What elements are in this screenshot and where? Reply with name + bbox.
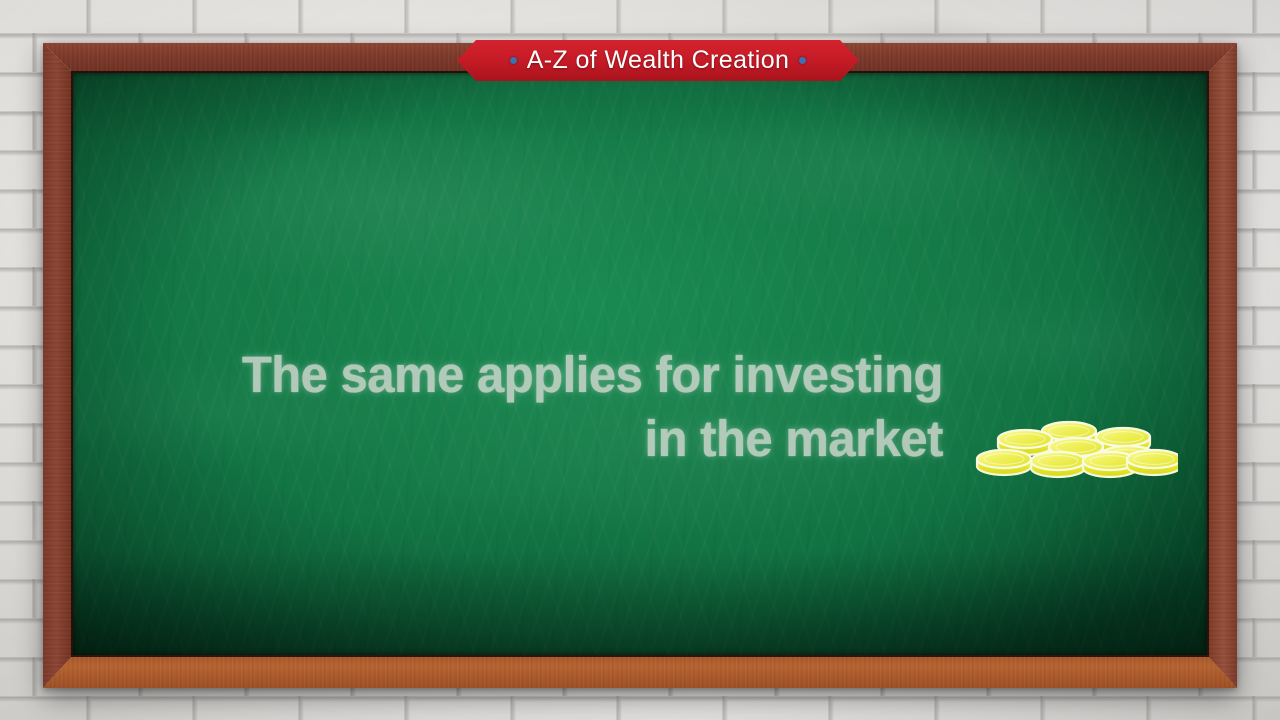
banner-dot-right-icon (799, 57, 806, 64)
frame-rail-left (43, 43, 73, 688)
frame-rail-right (1207, 43, 1237, 688)
frame-rail-bottom (43, 655, 1237, 688)
coin (977, 450, 1031, 475)
coin (1031, 452, 1085, 477)
banner-title: A-Z of Wealth Creation (527, 46, 790, 75)
title-banner: A-Z of Wealth Creation (457, 40, 859, 81)
chalkboard-surface (73, 73, 1207, 655)
stack-of-coins-illustration (968, 415, 1178, 481)
framed-chalkboard: The same applies for investing in the ma… (43, 43, 1237, 688)
slate-vignette (73, 73, 1207, 655)
banner-dot-left-icon (510, 57, 517, 64)
slide-canvas: The same applies for investing in the ma… (0, 0, 1280, 720)
coin (1127, 450, 1178, 475)
